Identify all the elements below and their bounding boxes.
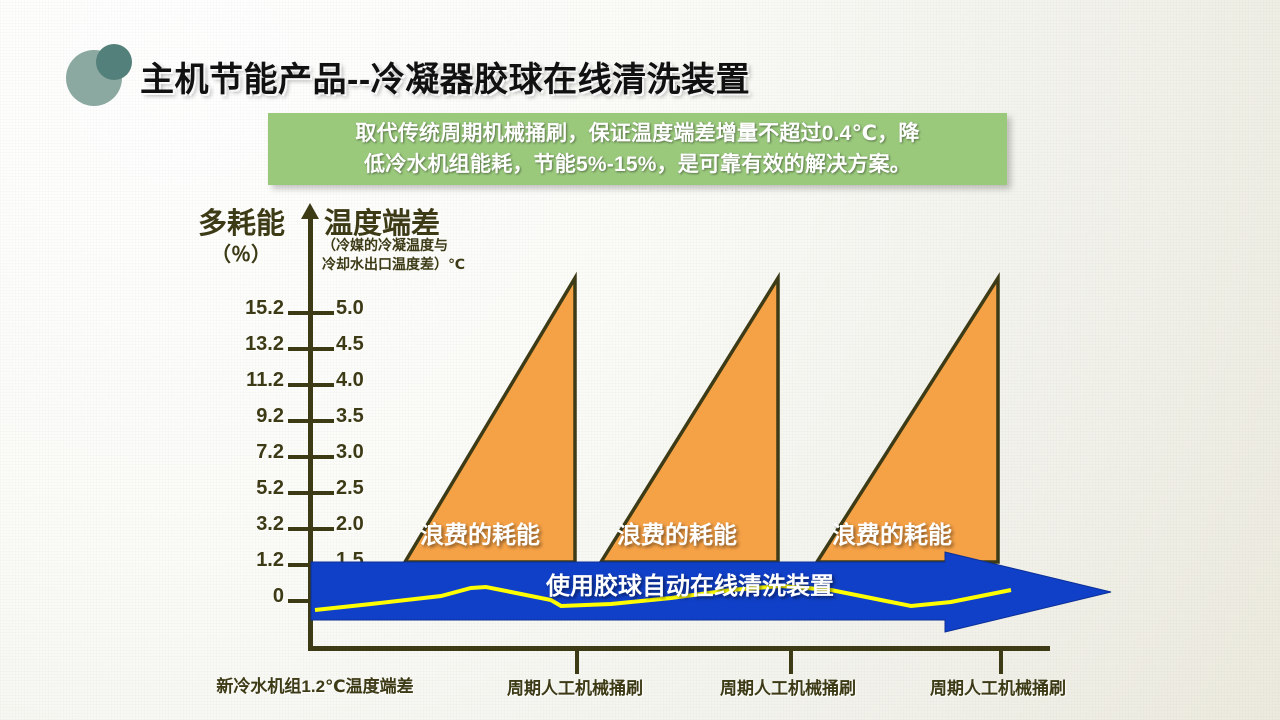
left-tick-label-6: 3.2 (214, 513, 284, 536)
left-tick-label-8: 0 (214, 585, 284, 608)
right-tick-label-0: 5.0 (336, 297, 406, 320)
x-tick-3 (999, 648, 1003, 674)
left-tick-label-7: 1.2 (214, 549, 284, 572)
right-tick-label-4: 3.0 (336, 441, 406, 464)
y-tick-1 (288, 347, 334, 351)
left-tick-label-0: 15.2 (214, 297, 284, 320)
right-tick-label-6: 2.0 (336, 513, 406, 536)
right-tick-label-5: 2.5 (336, 477, 406, 500)
right-axis-subtitle: （冷媒的冷凝温度与 冷却水出口温度差）℃ (322, 236, 465, 274)
left-tick-label-5: 5.2 (214, 477, 284, 500)
waste-label-3: 浪费的耗能 (832, 515, 952, 550)
left-tick-label-3: 9.2 (214, 405, 284, 428)
x-axis-label-2: 周期人工机械捅刷 (708, 674, 868, 699)
left-tick-label-2: 11.2 (214, 369, 284, 392)
y-tick-2 (288, 383, 334, 387)
x-axis-label-1: 周期人工机械捅刷 (495, 674, 655, 699)
y-axis-arrow-icon (301, 203, 319, 219)
right-tick-label-1: 4.5 (336, 333, 406, 356)
x-tick-1 (575, 648, 579, 674)
left-tick-label-4: 7.2 (214, 441, 284, 464)
y-tick-0 (288, 311, 334, 315)
x-axis-label-0: 新冷水机组1.2℃温度端差 (185, 672, 445, 697)
left-tick-label-1: 13.2 (214, 333, 284, 356)
waste-label-1: 浪费的耗能 (420, 515, 540, 550)
y-tick-5 (288, 491, 334, 495)
right-tick-label-3: 3.5 (336, 405, 406, 428)
x-tick-2 (789, 648, 793, 674)
left-axis-title: 多耗能 (198, 200, 285, 242)
x-axis-label-3: 周期人工机械捅刷 (918, 674, 1078, 699)
cleaning-device-band-label: 使用胶球自动在线清洗装置 (500, 566, 880, 601)
right-tick-label-2: 4.0 (336, 369, 406, 392)
left-axis-unit: （％） (211, 238, 271, 267)
energy-waste-chart: 多耗能 （％） 温度端差 （冷媒的冷凝温度与 冷却水出口温度差）℃ 15.2 1… (0, 0, 1280, 720)
waste-label-2: 浪费的耗能 (617, 515, 737, 550)
slide-root: 主机节能产品--冷凝器胶球在线清洗装置 取代传统周期机械捅刷，保证温度端差增量不… (0, 0, 1280, 720)
right-axis-subtitle-line1: （冷媒的冷凝温度与 (322, 236, 465, 255)
y-tick-6 (288, 527, 334, 531)
y-tick-4 (288, 455, 334, 459)
y-tick-3 (288, 419, 334, 423)
